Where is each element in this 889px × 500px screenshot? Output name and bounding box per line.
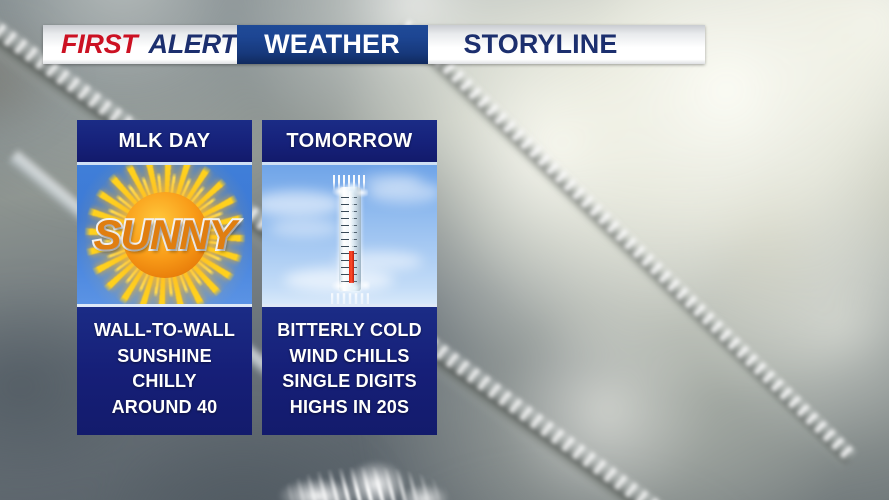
titlebar-weather-segment: WEATHER bbox=[237, 25, 428, 64]
cloud-icon bbox=[362, 173, 422, 189]
ice-spikes-top bbox=[333, 175, 367, 191]
cloud-icon bbox=[262, 191, 342, 217]
panel-header-mlk-day: MLK DAY bbox=[77, 120, 252, 165]
forecast-line: BITTERLY COLD bbox=[277, 319, 422, 342]
panel-art-thermometer bbox=[262, 165, 437, 307]
frozen-thermometer-icon bbox=[333, 181, 367, 297]
titlebar-first-alert-segment: FIRST ALERT bbox=[43, 25, 237, 64]
forecast-line: WALL-TO-WALL bbox=[94, 319, 235, 342]
panel-header-label: MLK DAY bbox=[118, 130, 210, 153]
panel-header-tomorrow: TOMORROW bbox=[262, 120, 437, 165]
titlebar-alert-text: ALERT bbox=[149, 31, 237, 58]
forecast-line: SUNSHINE bbox=[117, 345, 212, 368]
frost-crystal-spikes bbox=[258, 445, 471, 500]
forecast-line: SINGLE DIGITS bbox=[282, 370, 417, 393]
sunny-word-text: SUNNY bbox=[93, 214, 235, 256]
titlebar-storyline-text: STORYLINE bbox=[464, 31, 618, 58]
thermometer-scale-left bbox=[341, 197, 349, 283]
titlebar-first-text: FIRST bbox=[61, 31, 138, 58]
panel-header-label: TOMORROW bbox=[286, 130, 412, 153]
forecast-line: AROUND 40 bbox=[112, 396, 218, 419]
forecast-panel-group: MLK DAY SUNNY WALL-TO-WALL SUNSHINE CHIL… bbox=[77, 120, 437, 435]
first-alert-weather-storyline-titlebar: FIRST ALERT WEATHER STORYLINE bbox=[43, 25, 705, 64]
panel-art-sunny: SUNNY bbox=[77, 165, 252, 307]
titlebar-storyline-segment: STORYLINE bbox=[428, 25, 705, 64]
forecast-line: CHILLY bbox=[132, 370, 197, 393]
panel-text-mlk-day: WALL-TO-WALL SUNSHINE CHILLY AROUND 40 bbox=[77, 307, 252, 435]
forecast-line: HIGHS IN 20S bbox=[290, 396, 409, 419]
forecast-panel-tomorrow: TOMORROW BITTERLY COLD bbox=[262, 120, 437, 435]
panel-text-tomorrow: BITTERLY COLD WIND CHILLS SINGLE DIGITS … bbox=[262, 307, 437, 435]
cloud-icon bbox=[270, 219, 340, 237]
icicles bbox=[331, 293, 369, 307]
forecast-panel-mlk-day: MLK DAY SUNNY WALL-TO-WALL SUNSHINE CHIL… bbox=[77, 120, 252, 435]
titlebar-weather-text: WEATHER bbox=[264, 31, 400, 58]
forecast-line: WIND CHILLS bbox=[289, 345, 409, 368]
